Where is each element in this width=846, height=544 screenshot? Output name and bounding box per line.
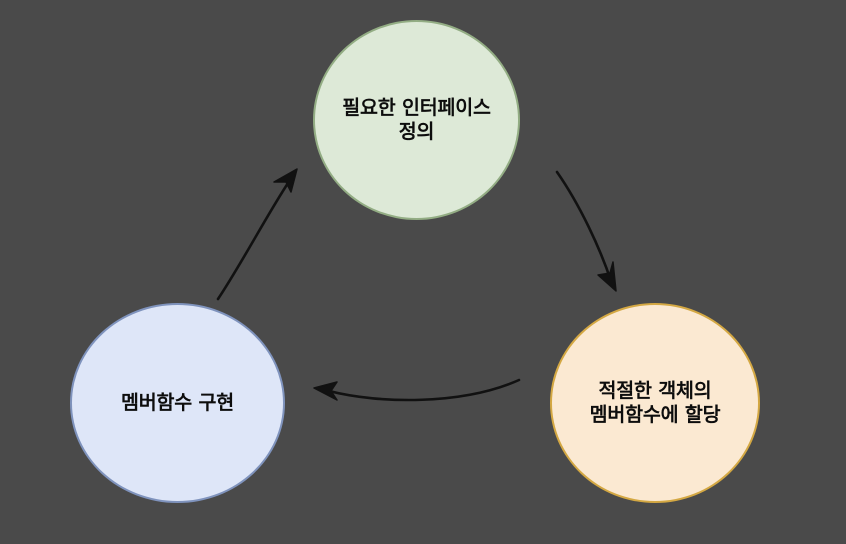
node-implement-label: 멤버함수 구현: [121, 391, 234, 415]
diagram-canvas: 필요한 인터페이스 정의 적절한 객체의 멤버함수에 할당 멤버함수 구현: [0, 0, 846, 544]
arrow-interface-to-assign: [557, 172, 616, 291]
node-assign-label: 적절한 객체의 멤버함수에 할당: [590, 379, 721, 428]
node-assign[interactable]: 적절한 객체의 멤버함수에 할당: [550, 303, 760, 503]
node-interface[interactable]: 필요한 인터페이스 정의: [313, 20, 520, 220]
arrow-assign-to-implement: [314, 380, 519, 400]
node-interface-label: 필요한 인터페이스 정의: [342, 96, 491, 145]
node-implement[interactable]: 멤버함수 구현: [70, 303, 285, 503]
arrow-implement-to-interface: [218, 169, 297, 299]
